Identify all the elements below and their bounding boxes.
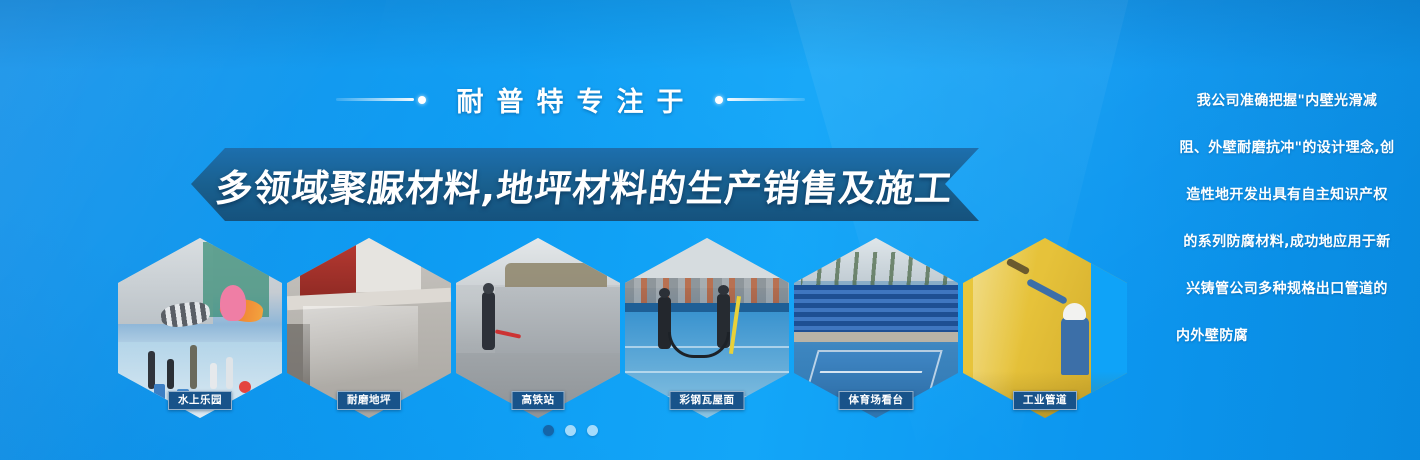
decorative-line-right [715,96,805,104]
showcase-item-stadium-seating[interactable]: 体育场看台 [794,238,958,418]
showcase-item-industrial-pipe[interactable]: 工业管道 [963,238,1127,418]
showcase-hexagon-strip: 水上乐园 耐磨地坪 高铁站 [118,238,1138,418]
description-line: 阻、外壁耐磨抗冲"的设计理念,创 [1176,125,1398,172]
headline-banner: 多领域聚脲材料,地坪材料的生产销售及施工 [191,148,979,221]
description-line: 内外壁防腐 [1176,313,1398,360]
showcase-item-rail-station[interactable]: 高铁站 [456,238,620,418]
decorative-line-left [336,96,426,104]
decorative-bar [336,98,414,101]
showcase-item-epoxy-floor[interactable]: 耐磨地坪 [287,238,451,418]
description-line: 我公司准确把握"内壁光滑减 [1176,78,1398,125]
showcase-label: 耐磨地坪 [337,391,401,411]
showcase-item-waterpark[interactable]: 水上乐园 [118,238,282,418]
showcase-label: 体育场看台 [839,391,914,411]
banner-headline: 多领域聚脲材料,地坪材料的生产销售及施工 [214,158,957,212]
showcase-label: 高铁站 [512,391,565,411]
description-line: 的系列防腐材料,成功地应用于新 [1176,219,1398,266]
description-line: 兴铸管公司多种规格出口管道的 [1176,266,1398,313]
background-vignette-top [0,0,1420,70]
showcase-label: 工业管道 [1013,391,1077,411]
subtitle-row: 耐普特专注于 [0,80,1140,119]
carousel-dot-1[interactable] [543,425,554,436]
carousel-dot-2[interactable] [565,425,576,436]
decorative-dot-icon [715,96,723,104]
carousel-dot-3[interactable] [587,425,598,436]
showcase-label: 彩钢瓦屋面 [670,391,745,411]
description-line: 造性地开发出具有自主知识产权 [1176,172,1398,219]
decorative-dot-icon [418,96,426,104]
carousel-dots [0,425,1140,436]
showcase-label: 水上乐园 [168,391,232,411]
decorative-bar [727,98,805,101]
description-column: 我公司准确把握"内壁光滑减 阻、外壁耐磨抗冲"的设计理念,创 造性地开发出具有自… [1176,78,1398,360]
hero-banner: 耐普特专注于 多领域聚脲材料,地坪材料的生产销售及施工 水上乐园 [0,0,1420,460]
banner-subtitle: 耐普特专注于 [444,80,697,119]
showcase-item-color-steel-roof[interactable]: 彩钢瓦屋面 [625,238,789,418]
